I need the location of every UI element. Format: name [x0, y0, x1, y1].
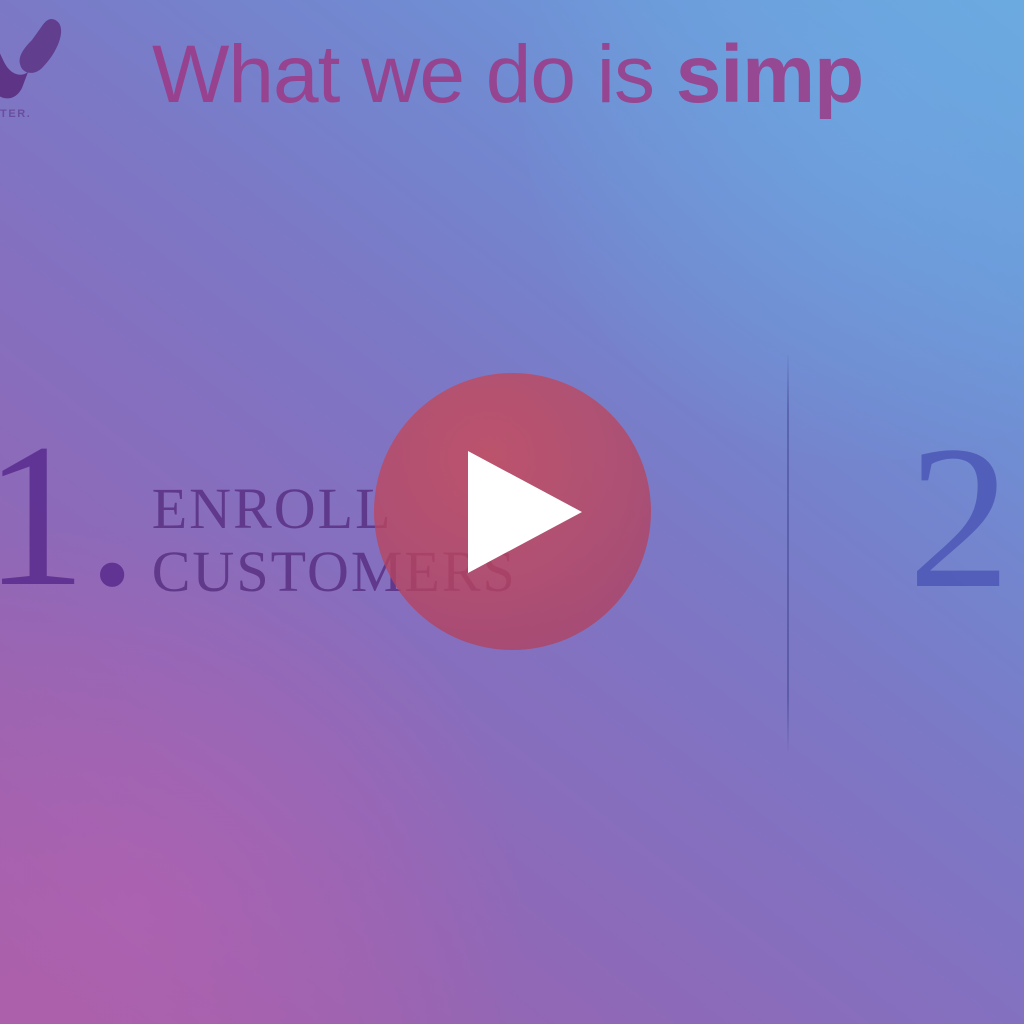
step-item-2: 2 [908, 438, 1024, 598]
headline-bold-part: simp [676, 29, 863, 120]
play-triangle-icon [468, 451, 582, 573]
play-button[interactable]: Play video [374, 373, 651, 650]
step-divider [787, 355, 789, 751]
headline-light-part: What we do is [152, 29, 676, 120]
page-title: What we do is simp [152, 34, 863, 116]
brand-tagline: TER. [0, 108, 31, 120]
step-2-number: 2 [908, 438, 1011, 598]
video-poster: TER. What we do is simp 1. ENROLL CUSTOM… [0, 0, 1024, 1024]
v-checkmark-logo-icon [0, 12, 70, 104]
step-1-number: 1. [0, 436, 138, 596]
brand-logo: TER. [0, 12, 70, 124]
